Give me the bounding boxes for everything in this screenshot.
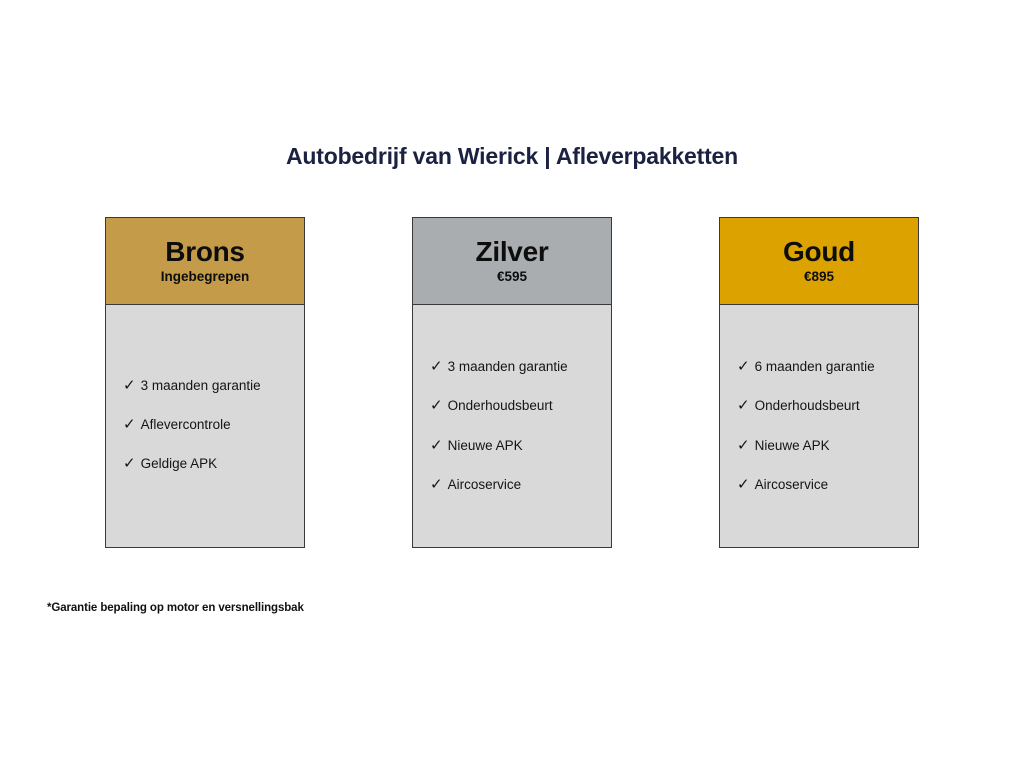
feature-list-zilver: ✓ 3 maanden garantie ✓ Onderhoudsbeurt ✓… [413, 305, 611, 547]
package-name: Zilver [476, 237, 549, 267]
feature-label: Nieuwe APK [755, 438, 830, 454]
pricing-card-goud[interactable]: Goud €895 ✓ 6 maanden garantie ✓ Onderho… [719, 217, 919, 548]
package-name: Brons [165, 237, 244, 267]
check-icon: ✓ [430, 477, 443, 492]
check-icon: ✓ [123, 456, 136, 471]
package-price: €595 [497, 270, 527, 285]
feature-label: Onderhoudsbeurt [448, 398, 553, 414]
check-icon: ✓ [737, 398, 750, 413]
check-icon: ✓ [123, 417, 136, 432]
feature-label: 6 maanden garantie [755, 359, 875, 375]
check-icon: ✓ [123, 378, 136, 393]
list-item: ✓ Aflevercontrole [123, 417, 304, 433]
feature-label: Aflevercontrole [141, 417, 231, 433]
list-item: ✓ Geldige APK [123, 456, 304, 472]
list-item: ✓ 3 maanden garantie [123, 378, 304, 394]
check-icon: ✓ [430, 438, 443, 453]
list-item: ✓ Nieuwe APK [737, 438, 918, 454]
list-item: ✓ Onderhoudsbeurt [737, 398, 918, 414]
list-item: ✓ Onderhoudsbeurt [430, 398, 611, 414]
feature-label: Onderhoudsbeurt [755, 398, 860, 414]
pricing-card-zilver[interactable]: Zilver €595 ✓ 3 maanden garantie ✓ Onder… [412, 217, 612, 548]
feature-label: Aircoservice [755, 477, 829, 493]
list-item: ✓ Aircoservice [430, 477, 611, 493]
check-icon: ✓ [737, 359, 750, 374]
page-title: Autobedrijf van Wierick | Afleverpakkett… [0, 143, 1024, 170]
pricing-card-brons[interactable]: Brons Ingebegrepen ✓ 3 maanden garantie … [105, 217, 305, 548]
check-icon: ✓ [737, 438, 750, 453]
card-header-goud: Goud €895 [720, 218, 918, 305]
package-price: €895 [804, 270, 834, 285]
feature-label: Nieuwe APK [448, 438, 523, 454]
check-icon: ✓ [430, 359, 443, 374]
list-item: ✓ 6 maanden garantie [737, 359, 918, 375]
card-header-zilver: Zilver €595 [413, 218, 611, 305]
list-item: ✓ Aircoservice [737, 477, 918, 493]
check-icon: ✓ [430, 398, 443, 413]
feature-list-goud: ✓ 6 maanden garantie ✓ Onderhoudsbeurt ✓… [720, 305, 918, 547]
package-name: Goud [783, 237, 855, 267]
card-header-brons: Brons Ingebegrepen [106, 218, 304, 305]
package-price: Ingebegrepen [161, 270, 250, 285]
feature-label: Geldige APK [141, 456, 218, 472]
list-item: ✓ Nieuwe APK [430, 438, 611, 454]
feature-label: 3 maanden garantie [141, 378, 261, 394]
list-item: ✓ 3 maanden garantie [430, 359, 611, 375]
feature-label: Aircoservice [448, 477, 522, 493]
feature-label: 3 maanden garantie [448, 359, 568, 375]
pricing-cards-container: Brons Ingebegrepen ✓ 3 maanden garantie … [105, 217, 919, 548]
footnote-text: *Garantie bepaling op motor en versnelli… [47, 602, 304, 614]
check-icon: ✓ [737, 477, 750, 492]
feature-list-brons: ✓ 3 maanden garantie ✓ Aflevercontrole ✓… [106, 305, 304, 547]
